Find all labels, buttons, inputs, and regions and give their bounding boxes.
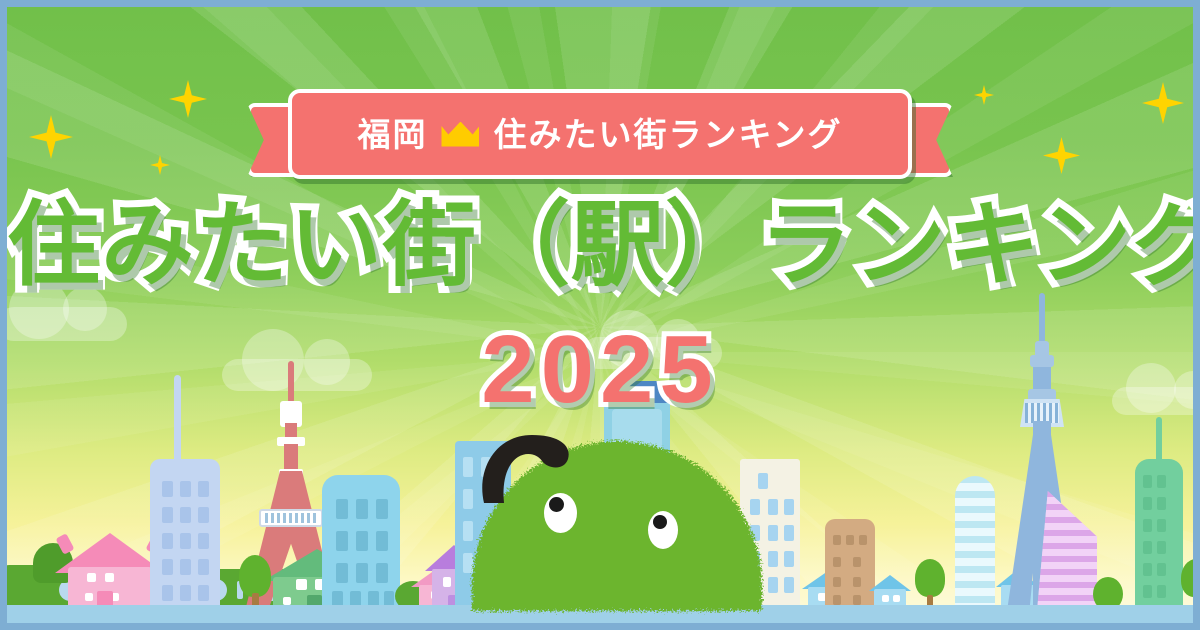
mascot-eye-right bbox=[648, 511, 678, 549]
tree-far-right bbox=[1181, 561, 1200, 611]
mascot-pupil-left bbox=[549, 497, 564, 512]
page-title: 住みたい街（駅）ランキング bbox=[7, 199, 1193, 292]
tower-striped-cyan bbox=[955, 476, 995, 611]
banner-prefecture: 福岡 bbox=[357, 118, 427, 151]
crown-icon bbox=[441, 122, 479, 147]
ribbon-banner: 福岡 住みたい街ランキング bbox=[7, 89, 1193, 181]
page-title-year: 2025 bbox=[7, 322, 1193, 418]
ribbon-body: 福岡 住みたい街ランキング bbox=[288, 89, 912, 179]
building-cyan-rounded bbox=[322, 475, 400, 611]
tree-left bbox=[239, 555, 271, 611]
building-tan bbox=[825, 519, 875, 611]
mascot-eye-left bbox=[544, 493, 577, 533]
house-pink bbox=[55, 533, 165, 611]
tower-mint-antenna bbox=[1156, 417, 1162, 463]
banner-label: 住みたい街ランキング bbox=[493, 118, 842, 151]
tower-lavender bbox=[150, 459, 220, 611]
mascot-pupil-right bbox=[653, 515, 667, 529]
tower-mint-green bbox=[1135, 459, 1183, 611]
suumo-mascot bbox=[472, 431, 762, 611]
hero-banner: 福岡 住みたい街ランキング 住みたい街（駅）ランキング 2025 bbox=[0, 0, 1200, 630]
tree-mid-right bbox=[915, 561, 945, 611]
